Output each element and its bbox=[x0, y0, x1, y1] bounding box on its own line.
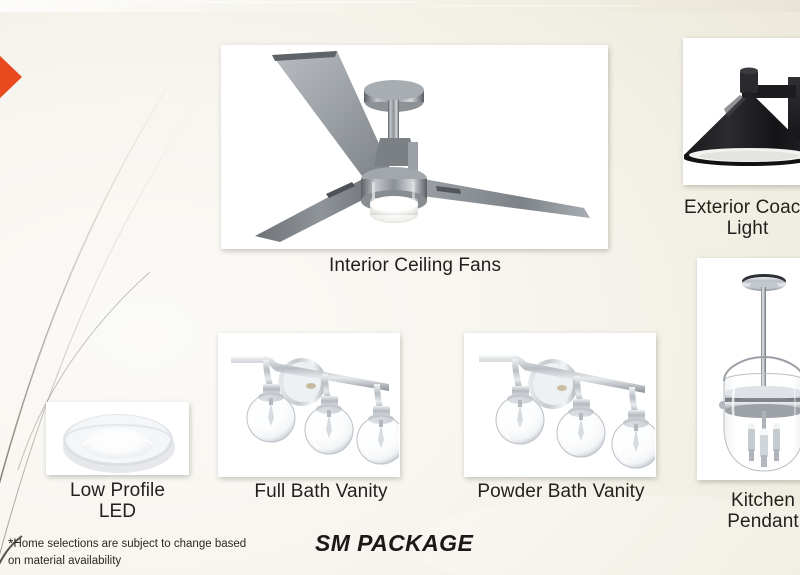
caption-interior-ceiling-fans: Interior Ceiling Fans bbox=[241, 255, 589, 276]
slide-canvas: Interior Ceiling Fans bbox=[0, 0, 800, 575]
product-card-kitchen-pendant[interactable] bbox=[697, 258, 800, 480]
accent-arrow-shape bbox=[0, 54, 22, 100]
product-card-exterior-coach-light[interactable] bbox=[683, 38, 800, 185]
product-card-powder-bath-vanity[interactable] bbox=[464, 333, 656, 477]
powder-bath-vanity-photo bbox=[465, 334, 655, 476]
product-card-low-profile-led[interactable] bbox=[46, 402, 189, 475]
ceiling-fan-photo bbox=[222, 46, 607, 248]
low-profile-led-photo bbox=[47, 403, 188, 474]
kitchen-pendant-photo bbox=[698, 259, 800, 479]
exterior-coach-light-photo bbox=[684, 39, 800, 184]
caption-kitchen-pendant: Kitchen Pendant bbox=[693, 490, 800, 533]
page-title: SM PACKAGE bbox=[315, 530, 473, 557]
caption-exterior-coach-light: Exterior Coach Light bbox=[660, 197, 800, 240]
full-bath-vanity-photo bbox=[219, 334, 399, 476]
caption-full-bath-vanity: Full Bath Vanity bbox=[230, 481, 412, 502]
product-card-full-bath-vanity[interactable] bbox=[218, 333, 400, 477]
product-card-interior-ceiling-fans[interactable] bbox=[221, 45, 608, 249]
footnote-disclaimer: *Home selections are subject to change b… bbox=[8, 536, 258, 569]
caption-powder-bath-vanity: Powder Bath Vanity bbox=[462, 481, 660, 502]
footnote-text: Home selections are subject to change ba… bbox=[8, 538, 246, 567]
caption-low-profile-led: Low Profile LED bbox=[40, 480, 195, 523]
